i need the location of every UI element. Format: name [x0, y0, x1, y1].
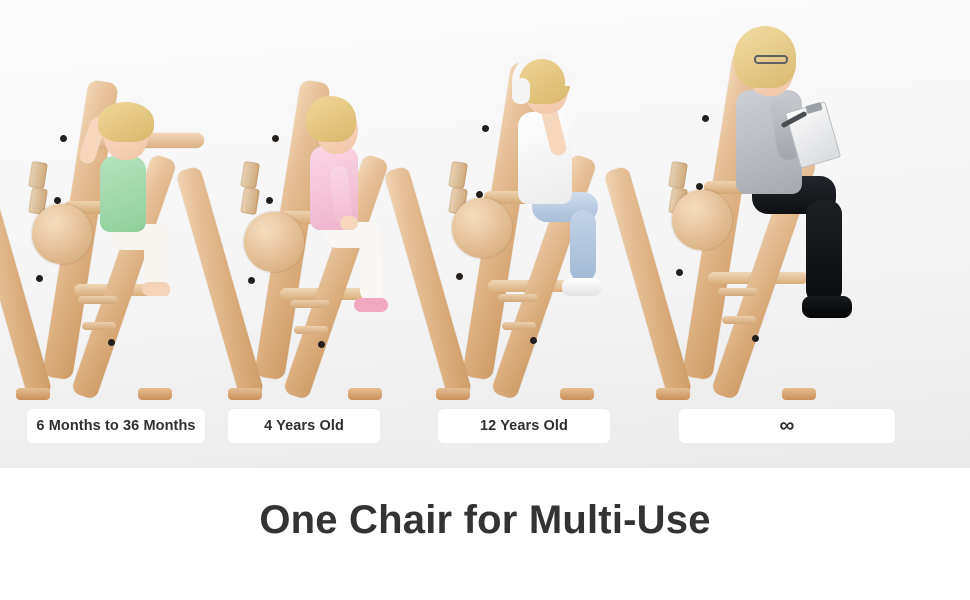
figure-torso [100, 156, 146, 232]
headphone-ear-cup [512, 78, 530, 104]
label-text: 6 Months to 36 Months [36, 418, 195, 434]
glasses-icon [754, 55, 788, 64]
scene-toddler [228, 0, 418, 400]
scene-adult [656, 0, 906, 400]
figure-foot [142, 282, 170, 296]
figure-shin [144, 238, 166, 288]
photo-panel: 6 Months to 36 Months 4 Years Old 12 Yea… [0, 0, 970, 468]
label-pill-adult[interactable]: ∞ [679, 409, 895, 443]
label-pill-infant[interactable]: 6 Months to 36 Months [27, 409, 205, 443]
figure-hair [98, 102, 154, 142]
figure-shin [570, 210, 596, 282]
infinity-icon: ∞ [779, 414, 794, 438]
label-pill-toddler[interactable]: 4 Years Old [228, 409, 380, 443]
figure-girl-pink [228, 0, 418, 400]
figure-shin [360, 240, 382, 302]
figure-hair [306, 96, 356, 142]
figure-hand [340, 216, 358, 230]
figure-shin [806, 200, 842, 304]
label-text: 4 Years Old [264, 418, 344, 434]
scene-child [436, 0, 636, 400]
page-title: One Chair for Multi-Use [0, 498, 970, 543]
label-text: 12 Years Old [480, 418, 568, 434]
figure-adult-woman [656, 0, 906, 400]
figure-girl-headphones [436, 0, 636, 400]
label-pill-child[interactable]: 12 Years Old [438, 409, 610, 443]
product-feature-banner: 6 Months to 36 Months 4 Years Old 12 Yea… [0, 0, 970, 600]
figure-shoe [354, 298, 388, 312]
figure-sneaker [562, 278, 602, 296]
figure-boot [802, 296, 852, 318]
